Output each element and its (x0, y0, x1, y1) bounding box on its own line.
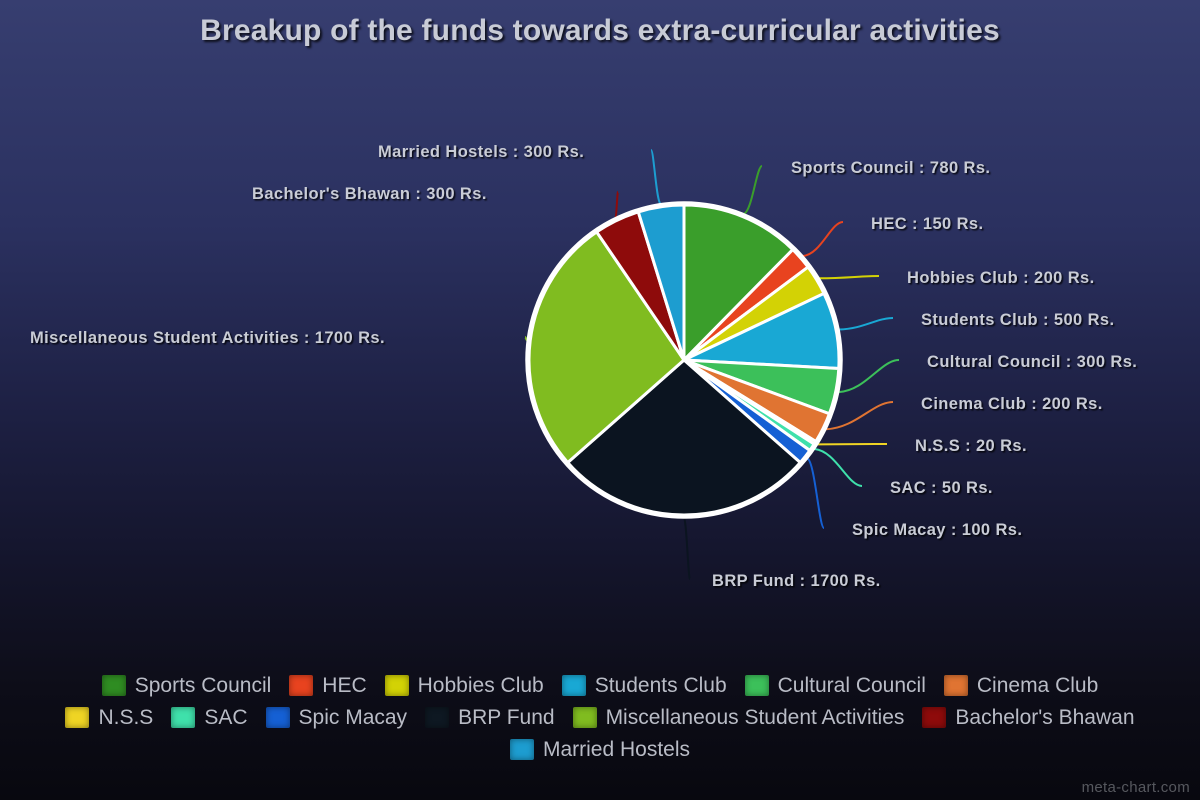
leader-line-spic_macay (808, 459, 825, 529)
watermark: meta-chart.com (1082, 779, 1190, 796)
legend-swatch-icon (171, 707, 195, 728)
legend-item-label: Bachelor's Bhawan (955, 707, 1134, 728)
legend-item[interactable]: Spic Macay (266, 704, 408, 730)
legend-item[interactable]: Cultural Council (745, 672, 926, 698)
legend-item-label: Hobbies Club (418, 675, 544, 696)
callout-label-spic_macay: Spic Macay : 100 Rs. (852, 521, 1022, 540)
chart-canvas: Breakup of the funds towards extra-curri… (0, 0, 1200, 800)
legend-swatch-icon (65, 707, 89, 728)
legend-item-label: Cultural Council (778, 675, 926, 696)
legend-item[interactable]: Sports Council (102, 672, 272, 698)
callout-label-cultural_council: Cultural Council : 300 Rs. (927, 353, 1137, 372)
legend-swatch-icon (289, 675, 313, 696)
callout-label-sports_council: Sports Council : 780 Rs. (791, 159, 990, 178)
leader-line-brp_fund (684, 518, 690, 579)
legend-item-label: Sports Council (135, 675, 272, 696)
legend: Sports CouncilHECHobbies ClubStudents Cl… (0, 672, 1200, 766)
legend-item[interactable]: Miscellaneous Student Activities (573, 704, 905, 730)
legend-swatch-icon (745, 675, 769, 696)
leader-line-hec (803, 222, 843, 256)
legend-swatch-icon (573, 707, 597, 728)
legend-item[interactable]: SAC (171, 704, 247, 730)
legend-item-label: SAC (204, 707, 247, 728)
legend-item[interactable]: N.S.S (65, 704, 153, 730)
callout-label-students_club: Students Club : 500 Rs. (921, 311, 1114, 330)
legend-swatch-icon (385, 675, 409, 696)
callout-label-cinema_club: Cinema Club : 200 Rs. (921, 395, 1103, 414)
legend-item-label: BRP Fund (458, 707, 555, 728)
legend-item[interactable]: HEC (289, 672, 366, 698)
legend-item[interactable]: Bachelor's Bhawan (922, 704, 1134, 730)
legend-swatch-icon (425, 707, 449, 728)
legend-swatch-icon (266, 707, 290, 728)
callout-label-sac: SAC : 50 Rs. (890, 479, 993, 498)
legend-item[interactable]: Hobbies Club (385, 672, 544, 698)
callout-label-miscellaneous: Miscellaneous Student Activities : 1700 … (30, 329, 385, 348)
legend-swatch-icon (510, 739, 534, 760)
leader-line-cultural_council (839, 360, 899, 392)
legend-item-label: Miscellaneous Student Activities (606, 707, 905, 728)
leader-line-sports_council (744, 166, 762, 214)
callout-label-brp_fund: BRP Fund : 1700 Rs. (712, 572, 881, 591)
legend-item[interactable]: Married Hostels (510, 736, 690, 762)
leader-line-bachelors_bhawan (615, 192, 618, 218)
legend-item[interactable]: BRP Fund (425, 704, 555, 730)
legend-item-label: Married Hostels (543, 739, 690, 760)
legend-swatch-icon (102, 675, 126, 696)
legend-item-label: HEC (322, 675, 366, 696)
callout-label-nss: N.S.S : 20 Rs. (915, 437, 1027, 456)
leader-line-married_hostels (651, 150, 661, 204)
legend-swatch-icon (562, 675, 586, 696)
legend-item-label: Cinema Club (977, 675, 1098, 696)
callout-label-hobbies_club: Hobbies Club : 200 Rs. (907, 269, 1095, 288)
leader-line-students_club (839, 318, 893, 330)
leader-line-cinema_club (826, 402, 893, 429)
pie-slices (527, 203, 841, 517)
legend-swatch-icon (922, 707, 946, 728)
legend-item[interactable]: Cinema Club (944, 672, 1098, 698)
callout-label-hec: HEC : 150 Rs. (871, 215, 984, 234)
leader-line-hobbies_club (819, 276, 879, 278)
callout-label-bachelors_bhawan: Bachelor's Bhawan : 300 Rs. (252, 185, 487, 204)
legend-swatch-icon (944, 675, 968, 696)
legend-item[interactable]: Students Club (562, 672, 727, 698)
leader-line-sac (815, 449, 863, 486)
legend-item-label: N.S.S (98, 707, 153, 728)
callout-label-married_hostels: Married Hostels : 300 Rs. (378, 143, 584, 162)
legend-item-label: Students Club (595, 675, 727, 696)
legend-item-label: Spic Macay (299, 707, 408, 728)
